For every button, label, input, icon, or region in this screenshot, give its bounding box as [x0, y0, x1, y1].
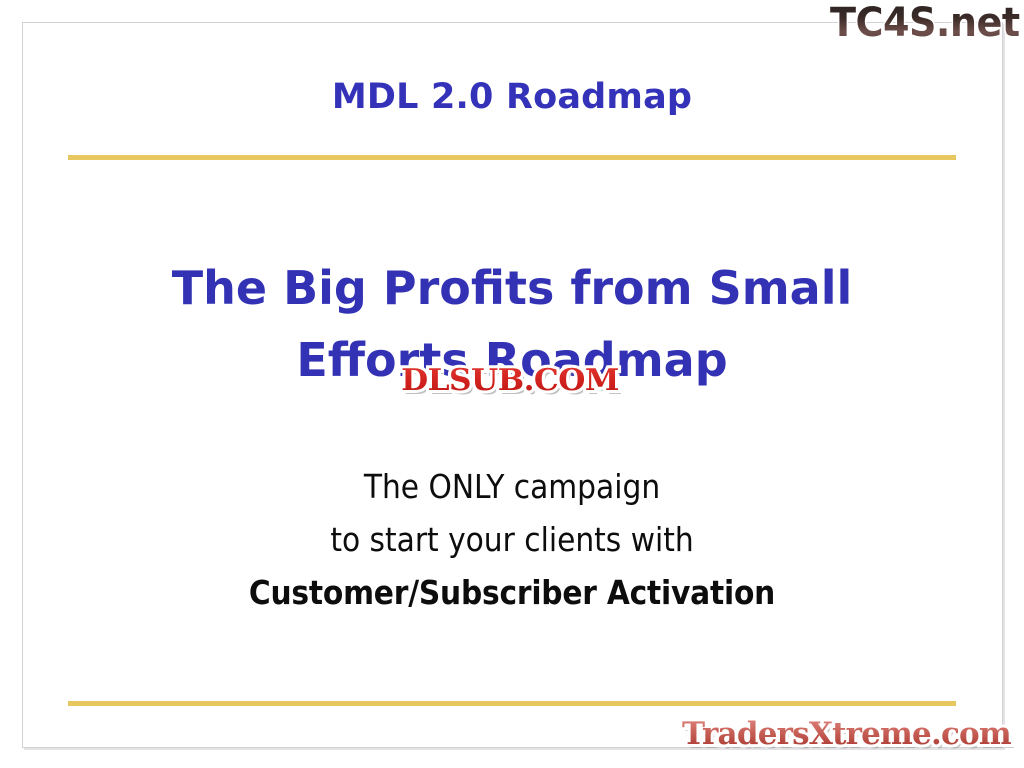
watermark-dlsub-group: DLSUB.COM DLSUB.COM DLSUB.COM [368, 362, 652, 402]
watermark-dlsub: DLSUB.COM [362, 362, 657, 400]
divider-top [68, 155, 956, 160]
page-title: MDL 2.0 Roadmap [68, 76, 956, 118]
body-copy: The ONLY campaign to start your clients … [62, 460, 962, 619]
main-heading-line-1: The Big Profits from Small [62, 252, 962, 324]
body-line-3-emphasis: Customer/Subscriber Activation [62, 566, 962, 619]
watermark-tradersxtreme-group: TradersXtreme.com TradersXtreme.com Trad… [682, 714, 1018, 758]
divider-bottom [68, 701, 956, 706]
watermark-tc4s: TC4S.net [830, 1, 1020, 45]
slide-canvas: MDL 2.0 Roadmap The Big Profits from Sma… [0, 0, 1024, 768]
body-line-2: to start your clients with [62, 513, 962, 566]
body-line-1: The ONLY campaign [62, 460, 962, 513]
watermark-tradersxtreme: TradersXtreme.com [682, 714, 1018, 754]
